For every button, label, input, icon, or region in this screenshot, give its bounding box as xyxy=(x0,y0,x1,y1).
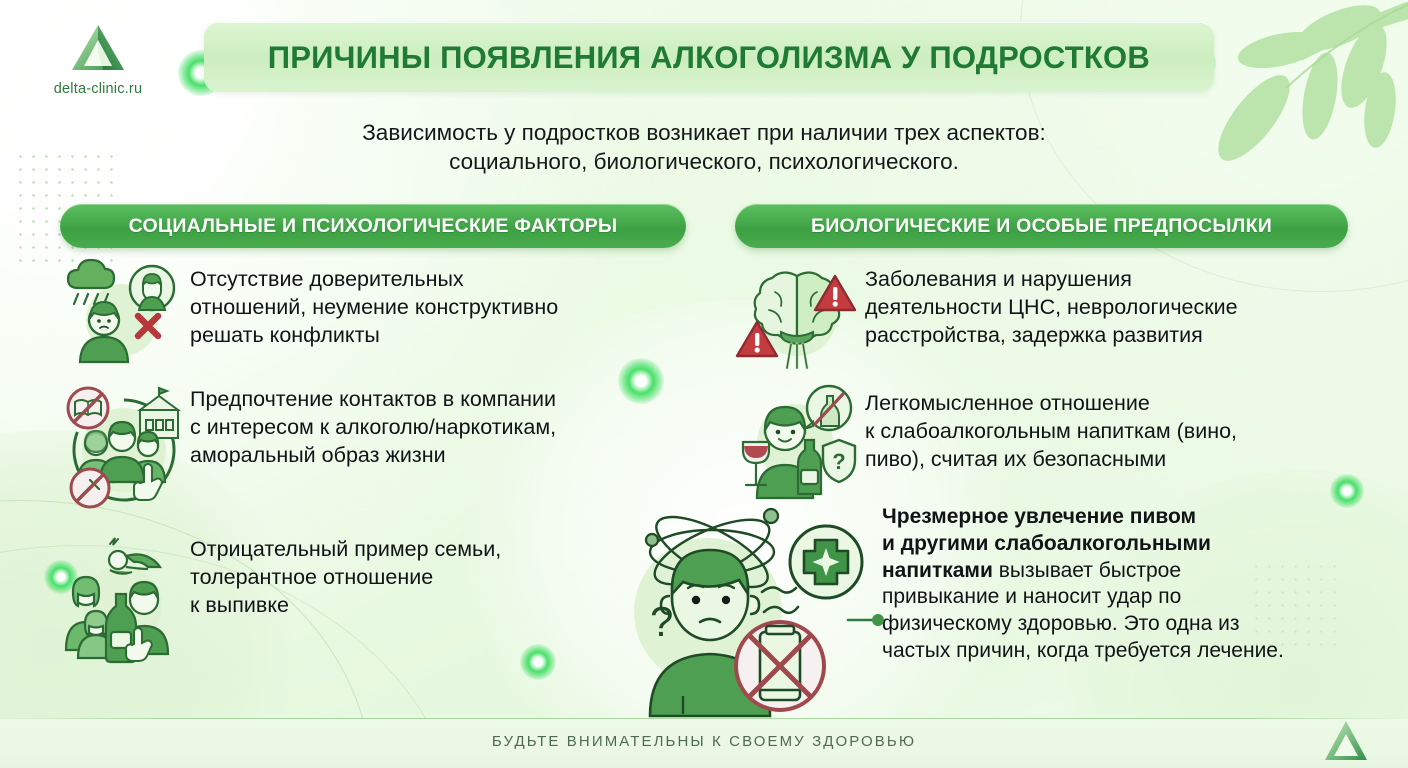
list-item-line-2: отношений, неумение конструктивно xyxy=(190,294,558,322)
footer-delta-triangle-logo-icon[interactable] xyxy=(1322,718,1370,764)
highlight-line-2: и другими слабоалкогольными xyxy=(882,531,1284,558)
leaf-branch-decoration xyxy=(1208,0,1408,182)
list-item-line-3: расстройства, задержка развития xyxy=(865,322,1238,350)
highlight-line-4: привыкание и наносит удар по xyxy=(882,584,1284,611)
list-item-line-2: с интересом к алкоголю/наркотикам, xyxy=(190,414,556,442)
list-item-line-1: Легкомысленное отношение xyxy=(865,390,1237,418)
delta-triangle-logo-icon xyxy=(69,22,127,76)
list-item-text: Отсутствие доверительных отношений, неум… xyxy=(190,262,558,350)
list-item-text: Заболевания и нарушения деятельности ЦНС… xyxy=(865,262,1238,350)
highlight-text: Чрезмерное увлечение пивом и другими сла… xyxy=(882,500,1284,665)
section-header-social-label: СОЦИАЛЬНЫЕ И ПСИХОЛОГИЧЕСКИЕ ФАКТОРЫ xyxy=(129,215,618,238)
section-header-biological-label: БИОЛОГИЧЕСКИЕ И ОСОБЫЕ ПРЕДПОСЫЛКИ xyxy=(811,215,1272,238)
list-item-line-2: толерантное отношение xyxy=(190,564,501,592)
svg-text:?: ? xyxy=(832,449,845,474)
teen-wine-beer-shield-icon: ? xyxy=(735,386,865,498)
peer-group-no-school-icon xyxy=(60,382,190,512)
dizzy-teen-no-beer-can-icon: ? xyxy=(620,500,882,716)
list-item-line-3: пиво), считая их безопасными xyxy=(865,446,1237,474)
highlight-line-3: напитками вызывает быстрое xyxy=(882,558,1284,585)
list-item-text: Легкомысленное отношение к слабоалкоголь… xyxy=(865,386,1237,474)
page-title: ПРИЧИНЫ ПОЯВЛЕНИЯ АЛКОГОЛИЗМА У ПОДРОСТК… xyxy=(268,39,1150,76)
footer-slogan: БУДЬТЕ ВНИМАТЕЛЬНЫ К СВОЕМУ ЗДОРОВЬЮ xyxy=(0,733,1408,750)
highlight-line-6: частых причин, когда требуется лечение. xyxy=(882,638,1284,665)
list-item-line-3: к выпивке xyxy=(190,592,501,620)
brand-site-label: delta-clinic.ru xyxy=(24,81,172,97)
page-subtitle: Зависимость у подростков возникает при н… xyxy=(244,118,1164,177)
footer-divider xyxy=(0,718,1408,719)
brand-logo[interactable]: delta-clinic.ru xyxy=(24,22,172,97)
brain-warning-icon xyxy=(735,262,865,372)
list-item-text: Предпочтение контактов в компании с инте… xyxy=(190,382,556,470)
family-drinking-bottle-icon xyxy=(60,532,190,662)
highlight-line-5: физическому здоровью. Это одна из xyxy=(882,611,1284,638)
title-banner: ПРИЧИНЫ ПОЯВЛЕНИЯ АЛКОГОЛИЗМА У ПОДРОСТК… xyxy=(204,22,1214,92)
infographic-canvas: delta-clinic.ru ПРИЧИНЫ ПОЯВЛЕНИЯ АЛКОГО… xyxy=(0,0,1408,768)
list-item-line-2: к слабоалкогольным напиткам (вино, xyxy=(865,418,1237,446)
list-item-line-1: Отсутствие доверительных xyxy=(190,266,558,294)
list-item-line-1: Отрицательный пример семьи, xyxy=(190,536,501,564)
list-item-line-2: деятельности ЦНС, неврологические xyxy=(865,294,1238,322)
list-item: Отрицательный пример семьи, толерантное … xyxy=(60,532,700,662)
column-biological-factors: Заболевания и нарушения деятельности ЦНС… xyxy=(735,262,1360,508)
list-item-line-1: Предпочтение контактов в компании xyxy=(190,386,556,414)
section-header-biological[interactable]: БИОЛОГИЧЕСКИЕ И ОСОБЫЕ ПРЕДПОСЫЛКИ xyxy=(735,204,1348,248)
svg-text:?: ? xyxy=(650,598,673,645)
subtitle-line-2: социального, биологического, психологиче… xyxy=(244,147,1164,176)
list-item-line-1: Заболевания и нарушения xyxy=(865,266,1238,294)
sad-teen-rain-cloud-icon xyxy=(60,262,190,362)
subtitle-line-1: Зависимость у подростков возникает при н… xyxy=(244,118,1164,147)
highlight-block: ? xyxy=(620,500,1408,716)
list-item: Предпочтение контактов в компании с инте… xyxy=(60,382,700,512)
list-item: Отсутствие доверительных отношений, неум… xyxy=(60,262,700,362)
highlight-line-1: Чрезмерное увлечение пивом xyxy=(882,504,1284,531)
list-item-line-3: аморальный образ жизни xyxy=(190,442,556,470)
column-social-factors: Отсутствие доверительных отношений, неум… xyxy=(60,262,700,662)
list-item: Заболевания и нарушения деятельности ЦНС… xyxy=(735,262,1360,372)
section-header-social[interactable]: СОЦИАЛЬНЫЕ И ПСИХОЛОГИЧЕСКИЕ ФАКТОРЫ xyxy=(60,204,686,248)
list-item-text: Отрицательный пример семьи, толерантное … xyxy=(190,532,501,620)
list-item-line-3: решать конфликты xyxy=(190,322,558,350)
list-item: ? Легкомысленное отношение к слабоалкого… xyxy=(735,386,1360,498)
